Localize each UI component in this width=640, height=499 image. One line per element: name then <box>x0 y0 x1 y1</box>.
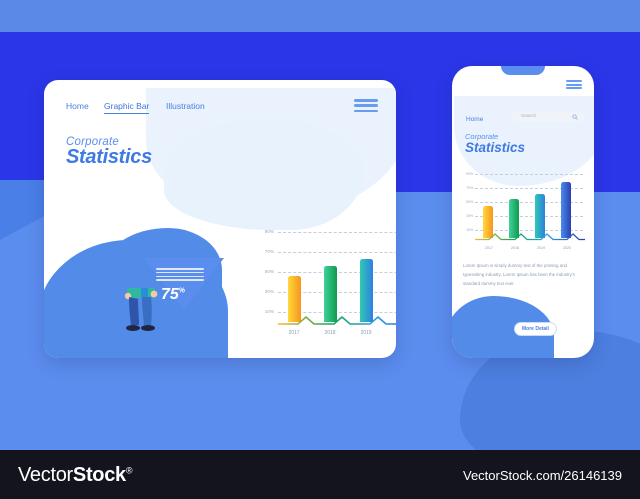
mobile-hamburger-menu-icon[interactable] <box>566 80 582 89</box>
nav-item-graphic-bar[interactable]: Graphic Bar <box>104 101 149 114</box>
desktop-wave-shape-2 <box>164 120 364 230</box>
bar-2018 <box>324 266 337 322</box>
mobile-x-axis-label: 2019 <box>529 246 553 250</box>
y-axis-label: 70% <box>260 249 274 254</box>
mobile-page-title: Statistics <box>465 140 525 155</box>
search-icon[interactable] <box>572 114 578 120</box>
logo-registered: ® <box>126 465 132 475</box>
watermark-footer: VectorStock® VectorStock.com/26146139 <box>0 450 640 499</box>
mobile-bar-2019 <box>535 194 545 238</box>
gridline <box>475 174 583 175</box>
hamburger-menu-icon[interactable] <box>354 99 378 112</box>
mobile-y-axis-label: 30% <box>459 214 473 218</box>
x-axis-label: 2019 <box>354 330 378 336</box>
page-title: Statistics <box>66 146 152 169</box>
y-axis-label: 10% <box>260 309 274 314</box>
x-axis-label: 2020 <box>390 330 396 336</box>
nav-item-home[interactable]: Home <box>66 101 89 111</box>
nav-item-illustration[interactable]: Illustration <box>166 101 205 111</box>
logo-bold: Stock <box>73 464 126 486</box>
background-top-strip <box>0 0 640 32</box>
mobile-search-input[interactable]: Search <box>512 111 584 122</box>
desktop-mockup-card: Home Graphic Bar Illustration Corporate … <box>44 80 396 358</box>
bar-2019 <box>360 259 373 322</box>
mobile-bar-chart: 90% 70% 50% 30% 10% 2017 2018 2019 2020 <box>461 170 585 250</box>
percentage-value: 75 <box>161 286 179 303</box>
mobile-heading: Corporate Statistics <box>465 132 525 155</box>
gridline <box>278 252 396 253</box>
bar-chart: 90% 70% 50% 30% 10% 2017 2018 2019 2020 <box>260 226 396 336</box>
logo-light: Vector <box>18 464 73 486</box>
percentage-unit: % <box>179 288 185 295</box>
desktop-body-text: Lorem Ipsum is simply dummy text of the … <box>256 356 396 358</box>
phone-notch <box>501 66 545 75</box>
mobile-baseline-zigzag <box>475 233 585 241</box>
gridline <box>278 232 396 233</box>
mobile-y-axis-label: 50% <box>459 200 473 204</box>
y-axis-label: 30% <box>260 289 274 294</box>
mobile-nav-item-home[interactable]: Home <box>466 116 483 123</box>
desktop-navbar: Home Graphic Bar Illustration <box>44 80 396 120</box>
mobile-y-axis-label: 70% <box>459 186 473 190</box>
mobile-body-text: Lorem Ipsum is simply dummy text of the … <box>463 262 583 288</box>
vectorstock-url: VectorStock.com/26146139 <box>463 468 622 483</box>
mobile-bar-2020 <box>561 182 571 238</box>
mobile-x-axis-label: 2020 <box>555 246 579 250</box>
mobile-mockup-card: Home Search Corporate Statistics 90% 70%… <box>452 66 594 358</box>
mobile-y-axis-label: 90% <box>459 172 473 176</box>
x-axis-label: 2017 <box>282 330 306 336</box>
mobile-y-axis-label: 10% <box>459 228 473 232</box>
vectorstock-logo: VectorStock® <box>18 464 132 487</box>
triangle-badge-lines <box>156 268 204 283</box>
gridline <box>278 272 396 273</box>
y-axis-label: 90% <box>260 229 274 234</box>
y-axis-label: 50% <box>260 269 274 274</box>
desktop-heading: Corporate Statistics <box>66 136 152 169</box>
percentage-badge: 75% <box>161 286 185 304</box>
x-axis-label: 2018 <box>318 330 342 336</box>
mobile-search-placeholder: Search <box>521 114 536 119</box>
mobile-more-detail-button[interactable]: More Detail <box>514 322 557 336</box>
mobile-x-axis-label: 2017 <box>477 246 501 250</box>
baseline-zigzag <box>278 316 396 326</box>
mobile-x-axis-label: 2018 <box>503 246 527 250</box>
illustration-canvas: Home Graphic Bar Illustration Corporate … <box>0 0 640 499</box>
